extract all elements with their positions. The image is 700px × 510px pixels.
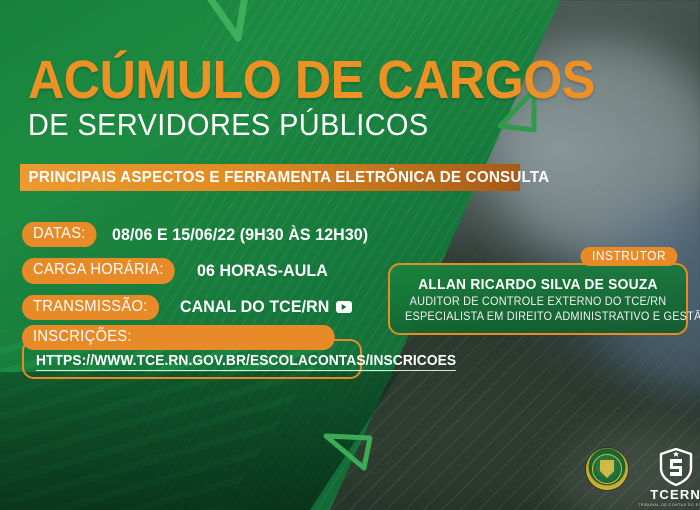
tcern-subtitle: TRIBUNAL DE CONTAS DO ESTADO xyxy=(638,503,700,507)
detail-value-dates: 08/06 E 15/06/22 (9H30 ÀS 12H30) xyxy=(112,225,368,245)
triangle-outline-top-icon xyxy=(188,0,258,50)
registration-url[interactable]: HTTPS://WWW.TCE.RN.GOV.BR/ESCOLACONTAS/I… xyxy=(36,353,456,371)
detail-value-workload-text: 06 HORAS-AULA xyxy=(197,261,328,281)
title-block: ACÚMULO DE CARGOS DE SERVIDORES PÚBLICOS xyxy=(28,55,558,140)
instructor-card: ALLAN RICARDO SILVA DE SOUZA AUDITOR DE … xyxy=(388,263,688,335)
subject-banner-text: PRINCIPAIS ASPECTOS E FERRAMENTA ELETRÔN… xyxy=(20,169,549,187)
detail-label-dates: DATAS: xyxy=(22,222,97,247)
detail-label-broadcast: TRANSMISSÃO: xyxy=(22,295,159,320)
event-details: DATAS: 08/06 E 15/06/22 (9H30 ÀS 12H30) … xyxy=(22,222,412,331)
detail-value-broadcast: CANAL DO TCE/RN xyxy=(180,297,352,317)
detail-value-broadcast-text: CANAL DO TCE/RN xyxy=(180,297,329,317)
tce-rn-seal-icon xyxy=(586,448,628,490)
triangle-outline-bottom-icon xyxy=(318,428,380,476)
registration-label: INSCRIÇÕES: xyxy=(22,325,335,350)
detail-label-workload: CARGA HORÁRIA: xyxy=(22,258,175,283)
detail-value-dates-text: 08/06 E 15/06/22 (9H30 ÀS 12H30) xyxy=(112,225,368,245)
instructor-specialty: ESPECIALISTA EM DIREITO ADMINISTRATIVO E… xyxy=(405,311,671,323)
detail-row-workload: CARGA HORÁRIA: 06 HORAS-AULA xyxy=(22,258,412,283)
tcern-wordmark: TCERN xyxy=(650,487,700,502)
detail-value-workload: 06 HORAS-AULA xyxy=(197,261,328,281)
event-poster: ACÚMULO DE CARGOS DE SERVIDORES PÚBLICOS… xyxy=(0,0,700,510)
instructor-name: ALLAN RICARDO SILVA DE SOUZA xyxy=(405,277,671,293)
logo-group: TCERN TRIBUNAL DE CONTAS DO ESTADO xyxy=(586,448,700,507)
instructor-role: AUDITOR DE CONTROLE EXTERNO DO TCE/RN xyxy=(405,296,671,308)
shield-icon xyxy=(659,448,693,486)
page-subtitle: DE SERVIDORES PÚBLICOS xyxy=(28,109,521,140)
detail-row-broadcast: TRANSMISSÃO: CANAL DO TCE/RN xyxy=(22,295,412,320)
subject-banner: PRINCIPAIS ASPECTOS E FERRAMENTA ELETRÔN… xyxy=(20,164,520,191)
detail-row-dates: DATAS: 08/06 E 15/06/22 (9H30 ÀS 12H30) xyxy=(22,222,412,247)
instructor-badge: INSTRUTOR xyxy=(581,247,678,266)
page-title: ACÚMULO DE CARGOS xyxy=(28,55,521,106)
registration-block: INSCRIÇÕES: HTTPS://WWW.TCE.RN.GOV.BR/ES… xyxy=(22,325,362,379)
youtube-icon[interactable] xyxy=(335,301,351,313)
tcern-logo: TCERN TRIBUNAL DE CONTAS DO ESTADO xyxy=(638,448,700,507)
